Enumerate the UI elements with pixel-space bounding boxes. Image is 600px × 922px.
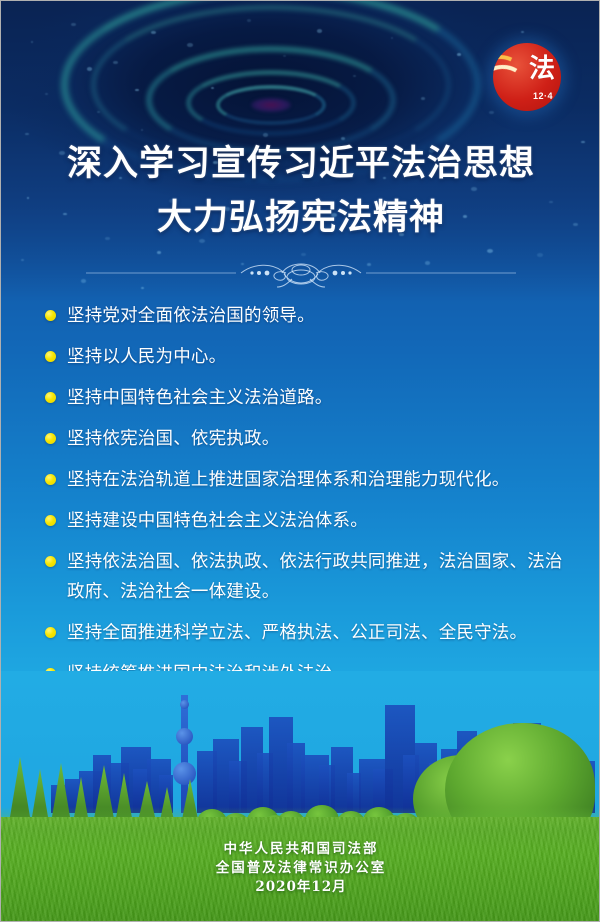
list-item: 坚持在法治轨道上推进国家治理体系和治理能力现代化。 bbox=[45, 465, 565, 495]
list-item: 坚持依法治国、依法执政、依法行政共同推进，法治国家、法治政府、法治社会一体建设。 bbox=[45, 547, 565, 607]
star-speck bbox=[487, 249, 493, 253]
list-item-text: 坚持依法治国、依法执政、依法行政共同推进，法治国家、法治政府、法治社会一体建设。 bbox=[67, 547, 565, 607]
title-line-1: 深入学习宣传习近平法治思想 bbox=[1, 137, 600, 191]
star-speck bbox=[25, 133, 29, 135]
list-item-text: 坚持在法治轨道上推进国家治理体系和治理能力现代化。 bbox=[67, 465, 510, 495]
list-item-text: 坚持依宪治国、依宪执政。 bbox=[67, 424, 279, 454]
star-speck bbox=[151, 31, 156, 34]
bullet-dot-icon bbox=[45, 433, 56, 444]
list-item: 坚持全面推进科学立法、严格执法、公正司法、全民守法。 bbox=[45, 618, 565, 648]
bullet-dot-icon bbox=[45, 474, 56, 485]
star-speck bbox=[317, 29, 322, 33]
footer-date: 2020年12月 bbox=[1, 878, 600, 897]
list-item-text: 坚持以人民为中心。 bbox=[67, 342, 226, 372]
star-speck bbox=[97, 111, 100, 113]
star-speck bbox=[489, 111, 494, 114]
star-speck bbox=[457, 53, 461, 56]
pearl-tower-ball-small bbox=[180, 700, 189, 709]
star-speck bbox=[521, 31, 524, 33]
poster-footer: 中华人民共和国司法部 全国普及法律常识办公室 2020年12月 bbox=[1, 840, 600, 897]
list-item-text: 坚持全面推进科学立法、严格执法、公正司法、全民守法。 bbox=[67, 618, 527, 648]
list-item: 坚持中国特色社会主义法治道路。 bbox=[45, 383, 565, 413]
ornament-divider bbox=[1, 257, 600, 289]
star-speck bbox=[391, 37, 393, 39]
bullet-dot-icon bbox=[45, 310, 56, 321]
star-speck bbox=[211, 87, 214, 89]
pearl-tower-ball-mid bbox=[176, 728, 193, 745]
list-item: 坚持依宪治国、依宪执政。 bbox=[45, 424, 565, 454]
star-speck bbox=[113, 61, 118, 64]
star-speck bbox=[141, 129, 143, 131]
star-speck bbox=[187, 43, 193, 47]
bullet-dot-icon bbox=[45, 515, 56, 526]
star-speck bbox=[45, 93, 48, 95]
bullet-dot-icon bbox=[45, 351, 56, 362]
bullet-dot-icon bbox=[45, 556, 56, 567]
star-speck bbox=[283, 55, 286, 57]
footer-line-1: 中华人民共和国司法部 bbox=[1, 840, 600, 859]
star-speck bbox=[157, 251, 161, 254]
star-speck bbox=[71, 23, 76, 26]
star-speck bbox=[421, 97, 425, 100]
footer-line-2: 全国普及法律常识办公室 bbox=[1, 859, 600, 878]
star-speck bbox=[301, 253, 306, 256]
list-item-text: 坚持党对全面依法治国的领导。 bbox=[67, 301, 315, 331]
star-speck bbox=[263, 133, 268, 137]
bullet-dot-icon bbox=[45, 392, 56, 403]
list-item: 坚持党对全面依法治国的领导。 bbox=[45, 301, 565, 331]
list-item-text: 坚持建设中国特色社会主义法治体系。 bbox=[67, 506, 368, 536]
constitution-day-logo-icon: 法 12·4 bbox=[493, 43, 561, 111]
list-item-text: 坚持中国特色社会主义法治道路。 bbox=[67, 383, 333, 413]
list-item: 坚持建设中国特色社会主义法治体系。 bbox=[45, 506, 565, 536]
star-speck bbox=[135, 89, 139, 91]
propaganda-poster: 法 12·4 深入学习宣传习近平法治思想 大力弘扬宪法精神 bbox=[0, 0, 600, 922]
logo-fa-character: 法 bbox=[529, 56, 555, 82]
title-line-2: 大力弘扬宪法精神 bbox=[1, 191, 600, 245]
star-speck bbox=[353, 75, 356, 77]
poster-title: 深入学习宣传习近平法治思想 大力弘扬宪法精神 bbox=[1, 137, 600, 245]
bullet-dot-icon bbox=[45, 627, 56, 638]
star-speck bbox=[87, 67, 92, 71]
star-speck bbox=[247, 19, 251, 22]
star-speck bbox=[31, 41, 33, 43]
logo-date-label: 12·4 bbox=[533, 91, 553, 101]
list-item: 坚持以人民为中心。 bbox=[45, 342, 565, 372]
